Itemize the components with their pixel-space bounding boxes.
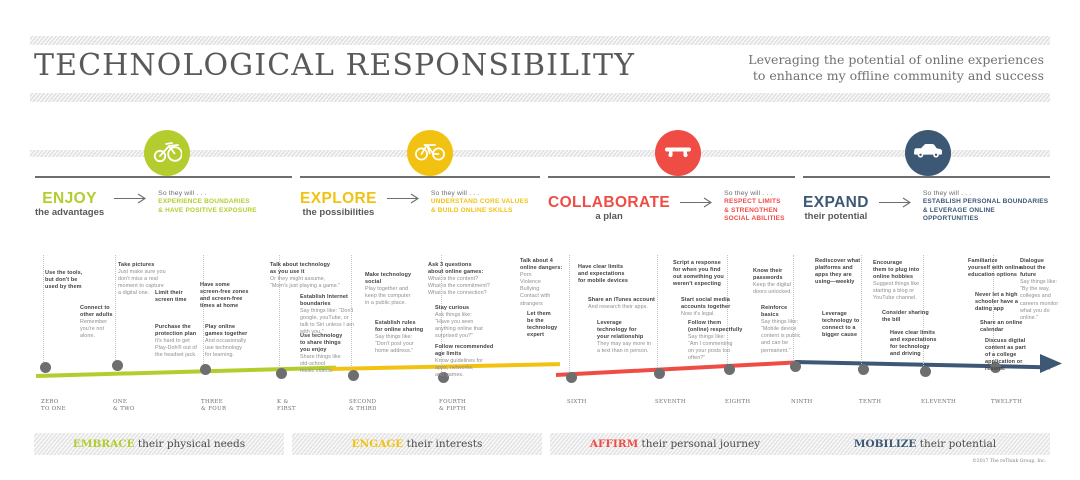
callout-body: Say things like:“Am I commentingon your …: [688, 334, 748, 362]
tick-label-line-1: ONE: [113, 399, 135, 406]
timeline-tick-label: NINTH: [791, 399, 813, 406]
callout-body: Say things like:“By the way,colleges and…: [1020, 279, 1066, 322]
timeline-tick-label: ZEROTO ONE: [41, 399, 66, 413]
footer-bar-engage: ENGAGE their interests: [292, 433, 542, 455]
stage-outcome-line-2: & STRENGTHEN SOCIAL ABILITIES: [724, 207, 795, 224]
footer-bar-keyword: AFFIRM: [590, 438, 638, 450]
callout-title: Use technologyto share thingsyou enjoy: [300, 333, 350, 354]
callout-title: Talk about 4online dangers:: [520, 258, 568, 272]
timeline-node[interactable]: [40, 362, 51, 373]
stage-outcome-lead: So they will . . .: [923, 189, 1050, 198]
stage-name: ENJOY: [35, 190, 104, 207]
timeline-tick-line: [43, 255, 44, 362]
stage-subtitle: their potential: [803, 211, 869, 223]
callout: Follow them(online) respectfullySay thin…: [688, 320, 748, 363]
footer-bar-rest: their interests: [403, 438, 482, 450]
arrow-right-icon: [377, 191, 431, 217]
callout-title: Follow them(online) respectfully: [688, 320, 748, 334]
tick-label-line-1: FOURTH: [439, 399, 466, 406]
callout: Let thembe thetechnologyexpert: [527, 311, 567, 339]
footer-bar-keyword: MOBILIZE: [854, 438, 917, 450]
timeline-segment-collaborate: [556, 360, 801, 377]
stage-header-expand: EXPANDtheir potential So they will . . .…: [803, 176, 1050, 228]
callout-title: Consider sharingthe bill: [882, 310, 934, 324]
timeline-tick-label: SIXTH: [567, 399, 587, 406]
stage-icon-expand: [905, 130, 951, 176]
page-subtitle-line-1: Leveraging the potential of online exper…: [748, 52, 1044, 68]
tick-label-line-2: & FOUR: [201, 406, 226, 413]
callout-body: They may say more ina text than in perso…: [597, 341, 655, 355]
callout: Share an iTunes accountAnd research thei…: [588, 297, 660, 311]
timeline-node[interactable]: [200, 364, 211, 375]
timeline-node[interactable]: [654, 368, 665, 379]
callout: Share an onlinecalendar: [980, 320, 1032, 334]
callout: Follow recommendedage limitsKnow guideli…: [435, 344, 505, 379]
page-title: TECHNOLOGICAL RESPONSIBILITY: [34, 48, 635, 83]
callout-title: Start social mediaaccounts together: [681, 297, 743, 311]
timeline-tick-label: THREE& FOUR: [201, 399, 226, 413]
callout: Talk about technologyas you use itOr the…: [270, 262, 348, 290]
callout-body: Suggest things likestarting a blog orYou…: [873, 281, 931, 302]
callout-body: Now it's legal.: [681, 311, 743, 318]
tick-label-line-1: K &: [277, 399, 296, 406]
stage-icon-enjoy: [144, 130, 190, 176]
callout-title: Know theirpasswords: [753, 268, 805, 282]
callout-title: Establish Internetboundaries: [300, 294, 356, 308]
callout-title: Purchase theprotection plan: [155, 324, 210, 338]
footer-bar-rest: their physical needs: [135, 438, 246, 450]
timeline-tick-label: K &FIRST: [277, 399, 296, 413]
callout: Discuss digitalcontent as partof a colle…: [985, 338, 1039, 373]
callout-title: Share an iTunes account: [588, 297, 660, 304]
tick-label-line-1: ZERO: [41, 399, 66, 406]
timeline-segment-enjoy: [36, 366, 336, 378]
footer-bar-keyword: ENGAGE: [352, 438, 404, 450]
callout-title: Discuss digitalcontent as partof a colle…: [985, 338, 1039, 373]
tick-label-line-2: TO ONE: [41, 406, 66, 413]
callout-body: And occasionallyuse technologyfor learni…: [205, 338, 260, 359]
page-subtitle: Leveraging the potential of online exper…: [748, 52, 1044, 84]
footer-bar-text: AFFIRM their personal journey: [590, 438, 760, 450]
footer-bar-rest: their personal journey: [638, 438, 760, 450]
footer-bar-text: EMBRACE their physical needs: [73, 438, 245, 450]
timeline-tick-label: SECOND& THIRD: [349, 399, 377, 413]
callout: Make technologysocialPlay together andke…: [365, 272, 419, 307]
timeline-tick-label: FOURTH& FIFTH: [439, 399, 466, 413]
arrow-right-icon: [869, 195, 923, 221]
tick-label-line-2: FIRST: [277, 406, 296, 413]
callout: Rediscover whatplatforms andapps they ar…: [815, 258, 875, 286]
callout: Start social mediaaccounts togetherNow i…: [681, 297, 743, 318]
stage-title-group: EXPLOREthe possibilities: [300, 190, 377, 219]
stage-outcome: So they will . . .RESPECT LIMITS& STRENG…: [724, 189, 795, 228]
timeline-node[interactable]: [724, 364, 735, 375]
stage-header-collaborate: COLLABORATEa plan So they will . . .RESP…: [548, 176, 795, 228]
timeline-tick-label: SEVENTH: [655, 399, 686, 406]
callout: Stay curiousAsk things like:“Have you se…: [435, 305, 490, 340]
stage-outcome: So they will . . .ESTABLISH PERSONAL BOU…: [923, 189, 1050, 228]
stage-outcome: So they will . . .EXPERIENCE BOUNDARIES&…: [158, 189, 257, 219]
stage-header-enjoy: ENJOYthe advantages So they will . . .EX…: [35, 176, 292, 219]
callout-title: Have clear limitsand expectationsfor tec…: [890, 330, 946, 358]
stage-outcome-line-2: & BUILD ONLINE SKILLS: [431, 207, 529, 216]
tick-label-line-1: SEVENTH: [655, 399, 686, 406]
callout-title: Leveragetechnology toconnect to abigger …: [822, 311, 878, 339]
top-divider-bar: [30, 36, 1050, 45]
timeline-tick-label: TENTH: [859, 399, 881, 406]
callout: Know theirpasswordsKeep the digitaldoors…: [753, 268, 805, 296]
callout: Have clear limitsand expectationsfor mob…: [578, 264, 640, 285]
bicycle-icon: [415, 140, 445, 167]
tick-label-line-1: SECOND: [349, 399, 377, 406]
callout: Purchase theprotection planIt's hard to …: [155, 324, 210, 359]
stage-rule: [548, 176, 795, 178]
stage-outcome-line-1: EXPERIENCE BOUNDARIES: [158, 198, 257, 207]
callout-title: Have clear limitsand expectationsfor mob…: [578, 264, 640, 285]
callout-body: Know guidelines forapps, networks,and ga…: [435, 358, 505, 379]
footer-bar-text: MOBILIZE their potential: [854, 438, 996, 450]
callout-body: It's hard to getPlay-Doh® out ofthe head…: [155, 338, 210, 359]
stage-header-explore: EXPLOREthe possibilities So they will . …: [300, 176, 540, 219]
timeline-tick-label: EIGHTH: [725, 399, 750, 406]
callout-body: Share things likeold-schoolmusic videos.: [300, 354, 350, 375]
timeline-node[interactable]: [920, 366, 931, 377]
timeline-arrowhead-icon: [1040, 354, 1066, 379]
callout-title: Establish rulesfor online sharing: [375, 320, 431, 334]
stage-subtitle: the possibilities: [300, 207, 377, 219]
tick-label-line-2: & THIRD: [349, 406, 377, 413]
stage-outcome: So they will . . .UNDERSTAND CORE VALUES…: [431, 189, 529, 219]
callout: Use technologyto share thingsyou enjoySh…: [300, 333, 350, 376]
callout-title: Limit theirscreen time: [155, 290, 203, 304]
callout-body: What is the content?What is the commitme…: [428, 276, 503, 297]
callout-title: Share an onlinecalendar: [980, 320, 1032, 334]
callout-title: Play onlinegames together: [205, 324, 260, 338]
callout-title: Have somescreen-free zonesand screen-fre…: [200, 282, 260, 310]
callout: Script a responsefor when you findout so…: [673, 260, 739, 288]
callout: Talk about 4online dangers:PornViolenceB…: [520, 258, 568, 308]
tick-label-line-1: TWELFTH: [991, 399, 1022, 406]
stage-outcome-lead: So they will . . .: [431, 189, 529, 198]
tick-label-line-1: EIGHTH: [725, 399, 750, 406]
tricycle-icon: [152, 139, 182, 168]
footer-bar-keyword: EMBRACE: [73, 438, 135, 450]
arrow-right-icon: [104, 191, 158, 217]
callout-body: Say things like:“Mobile devicecontent is…: [761, 319, 809, 354]
tick-label-line-1: SIXTH: [567, 399, 587, 406]
stage-name: EXPLORE: [300, 190, 377, 207]
stage-name: EXPAND: [803, 194, 869, 211]
callout: Dialogueabout thefutureSay things like:“…: [1020, 258, 1066, 322]
callout-body: Play together andkeep the computerin a p…: [365, 286, 419, 307]
stage-title-group: COLLABORATEa plan: [548, 194, 670, 223]
stage-outcome-line-1: UNDERSTAND CORE VALUES: [431, 198, 529, 207]
callout: Ask 3 questionsabout online games:What i…: [428, 262, 503, 297]
stage-subtitle: the advantages: [35, 207, 104, 219]
timeline-tick-line: [657, 255, 658, 368]
callout: Use the tools,but don't beused by them: [45, 270, 103, 291]
footer-bar-text: ENGAGE their interests: [352, 438, 483, 450]
stage-title-group: ENJOYthe advantages: [35, 190, 104, 219]
callout-title: Let thembe thetechnologyexpert: [527, 311, 567, 339]
stage-name: COLLABORATE: [548, 194, 670, 211]
callout-title: Follow recommendedage limits: [435, 344, 505, 358]
timeline-tick-line: [569, 255, 570, 372]
callout: Have clear limitsand expectationsfor tec…: [890, 330, 946, 358]
callout-body: Ask things like:“Have you seenanything o…: [435, 312, 490, 340]
callout: Consider sharingthe bill: [882, 310, 934, 324]
header-divider-bar: [30, 93, 1050, 102]
callout: Encouragethem to plug intoonline hobbies…: [873, 260, 931, 303]
footer-bar-embrace: EMBRACE their physical needs: [34, 433, 284, 455]
callout: Have somescreen-free zonesand screen-fre…: [200, 282, 260, 310]
callout-body: Say things like:“Don't post yourhome add…: [375, 334, 431, 355]
stage-rule: [300, 176, 540, 178]
timeline-tick-label: ELEVENTH: [921, 399, 956, 406]
stage-outcome-line-1: RESPECT LIMITS: [724, 198, 795, 207]
tick-label-line-1: ELEVENTH: [921, 399, 956, 406]
callout-body: PornViolenceBullyingContact withstranger…: [520, 272, 568, 307]
stage-title-group: EXPANDtheir potential: [803, 194, 869, 223]
stage-rule: [35, 176, 292, 178]
car-icon: [912, 142, 944, 164]
callout-title: Rediscover whatplatforms andapps they ar…: [815, 258, 875, 286]
stage-outcome-lead: So they will . . .: [724, 189, 795, 198]
timeline-node[interactable]: [858, 364, 869, 375]
callout-title: Connect toother adults: [80, 305, 126, 319]
stage-subtitle: a plan: [548, 211, 670, 223]
footer-bar-mobilize: MOBILIZE their potential: [800, 433, 1050, 455]
callout-title: Stay curious: [435, 305, 490, 312]
timeline-tick-label: TWELFTH: [991, 399, 1022, 406]
callout: Connect toother adultsRememberyou're not…: [80, 305, 126, 340]
timeline-node[interactable]: [566, 372, 577, 383]
callout-body: And research their apps.: [588, 304, 660, 311]
stage-icon-explore: [407, 130, 453, 176]
tick-label-line-2: & TWO: [113, 406, 135, 413]
callout: Limit theirscreen time: [155, 290, 203, 304]
callout-title: Use the tools,but don't beused by them: [45, 270, 103, 291]
stage-outcome-lead: So they will . . .: [158, 189, 257, 198]
tick-label-line-1: TENTH: [859, 399, 881, 406]
callout: Establish InternetboundariesSay things l…: [300, 294, 356, 337]
stage-outcome-line-2: & HAVE POSITIVE EXPOSURE: [158, 207, 257, 216]
callout-title: Script a responsefor when you findout so…: [673, 260, 739, 288]
footer-bar-rest: their potential: [916, 438, 996, 450]
timeline-node[interactable]: [790, 361, 801, 372]
callout-title: Reinforcebasics: [761, 305, 809, 319]
stage-icon-collaborate: [655, 130, 701, 176]
timeline-node[interactable]: [112, 360, 123, 371]
callout-title: Talk about technologyas you use it: [270, 262, 348, 276]
callout: Establish rulesfor online sharingSay thi…: [375, 320, 431, 355]
timeline-tick-label: ONE& TWO: [113, 399, 135, 413]
arrow-right-icon: [670, 195, 724, 221]
stage-rule: [803, 176, 1050, 178]
callout-body: Keep the digitaldoors unlocked.: [753, 282, 805, 296]
callout-title: Make technologysocial: [365, 272, 419, 286]
tick-label-line-2: & FIFTH: [439, 406, 466, 413]
callout-title: Leveragetechnology foryour relationship: [597, 320, 655, 341]
copyright: ©2017 The reThink Group, Inc.: [972, 459, 1046, 464]
callout: Leveragetechnology toconnect to abigger …: [822, 311, 878, 339]
tick-label-line-1: NINTH: [791, 399, 813, 406]
stage-outcome-line-2: & LEVERAGE ONLINE OPPORTUNITIES: [923, 207, 1050, 224]
callout: Leveragetechnology foryour relationshipT…: [597, 320, 655, 355]
page-subtitle-line-2: to enhance my offline community and succ…: [748, 68, 1044, 84]
callout: Play onlinegames togetherAnd occasionall…: [205, 324, 260, 359]
callout-title: Ask 3 questionsabout online games:: [428, 262, 503, 276]
callout-body: Rememberyou're notalone.: [80, 319, 126, 340]
callout: ReinforcebasicsSay things like:“Mobile d…: [761, 305, 809, 355]
callout-title: Take pictures: [118, 262, 178, 269]
tick-label-line-1: THREE: [201, 399, 226, 406]
callout-title: Dialogueabout thefuture: [1020, 258, 1066, 279]
callout-title: Encouragethem to plug intoonline hobbies: [873, 260, 931, 281]
timeline-node[interactable]: [276, 368, 287, 379]
callout-body: Or they might assume,“Mom's just playing…: [270, 276, 348, 290]
footer-bar-affirm: AFFIRM their personal journey: [550, 433, 800, 455]
skateboard-icon: [663, 143, 693, 164]
stage-outcome-line-1: ESTABLISH PERSONAL BOUNDARIES: [923, 198, 1050, 207]
